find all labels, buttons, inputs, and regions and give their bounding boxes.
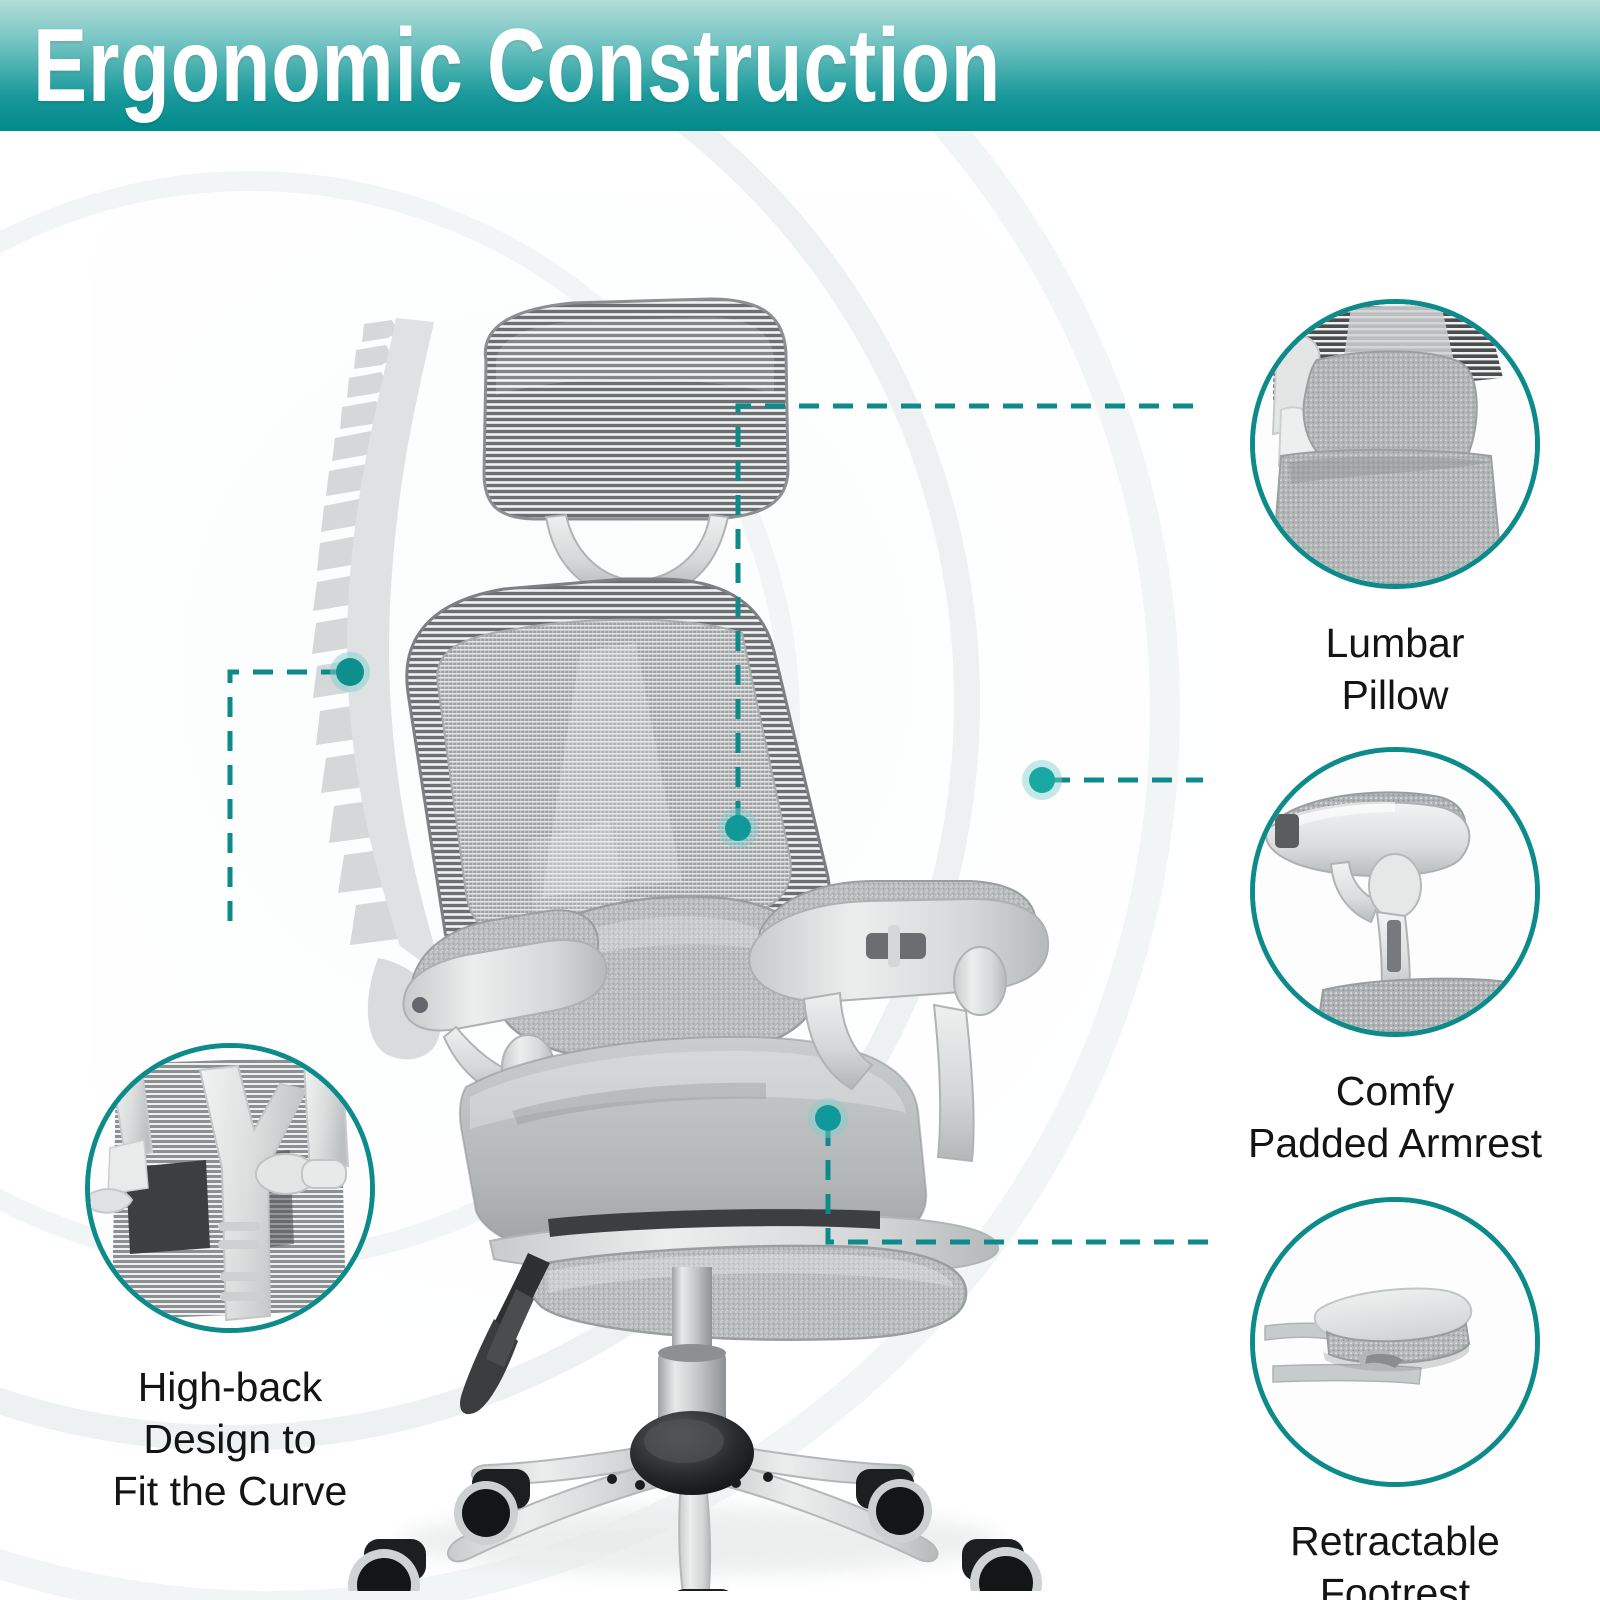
hotspot-armrest[interactable] <box>1020 758 1064 802</box>
callout-label-high-back: High-back Design to Fit the Curve <box>40 1361 420 1517</box>
callout-label-armrest: Comfy Padded Armrest <box>1203 1065 1587 1169</box>
hotspot-footrest[interactable] <box>806 1096 850 1140</box>
callout-label-footrest: Retractable Footrest <box>1203 1515 1587 1600</box>
footrest-photo[interactable] <box>1250 1197 1540 1487</box>
retractable-footrest <box>490 1209 998 1340</box>
page-title: Ergonomic Construction <box>33 14 1001 118</box>
lumbar-pillow-photo[interactable] <box>1250 299 1540 589</box>
hotspot-lumbar-pillow[interactable] <box>716 806 760 850</box>
chair-headrest <box>484 299 788 519</box>
armrest-photo[interactable] <box>1250 747 1540 1037</box>
header-banner: Ergonomic Construction <box>0 0 1600 131</box>
hotspot-high-back[interactable] <box>328 650 372 694</box>
callout-label-lumbar-pillow: Lumbar Pillow <box>1203 617 1587 721</box>
backrest-frame-photo[interactable] <box>85 1043 375 1333</box>
product-feature-scene: Lumbar Pillow <box>0 131 1600 1600</box>
tilt-lever <box>460 1253 550 1414</box>
